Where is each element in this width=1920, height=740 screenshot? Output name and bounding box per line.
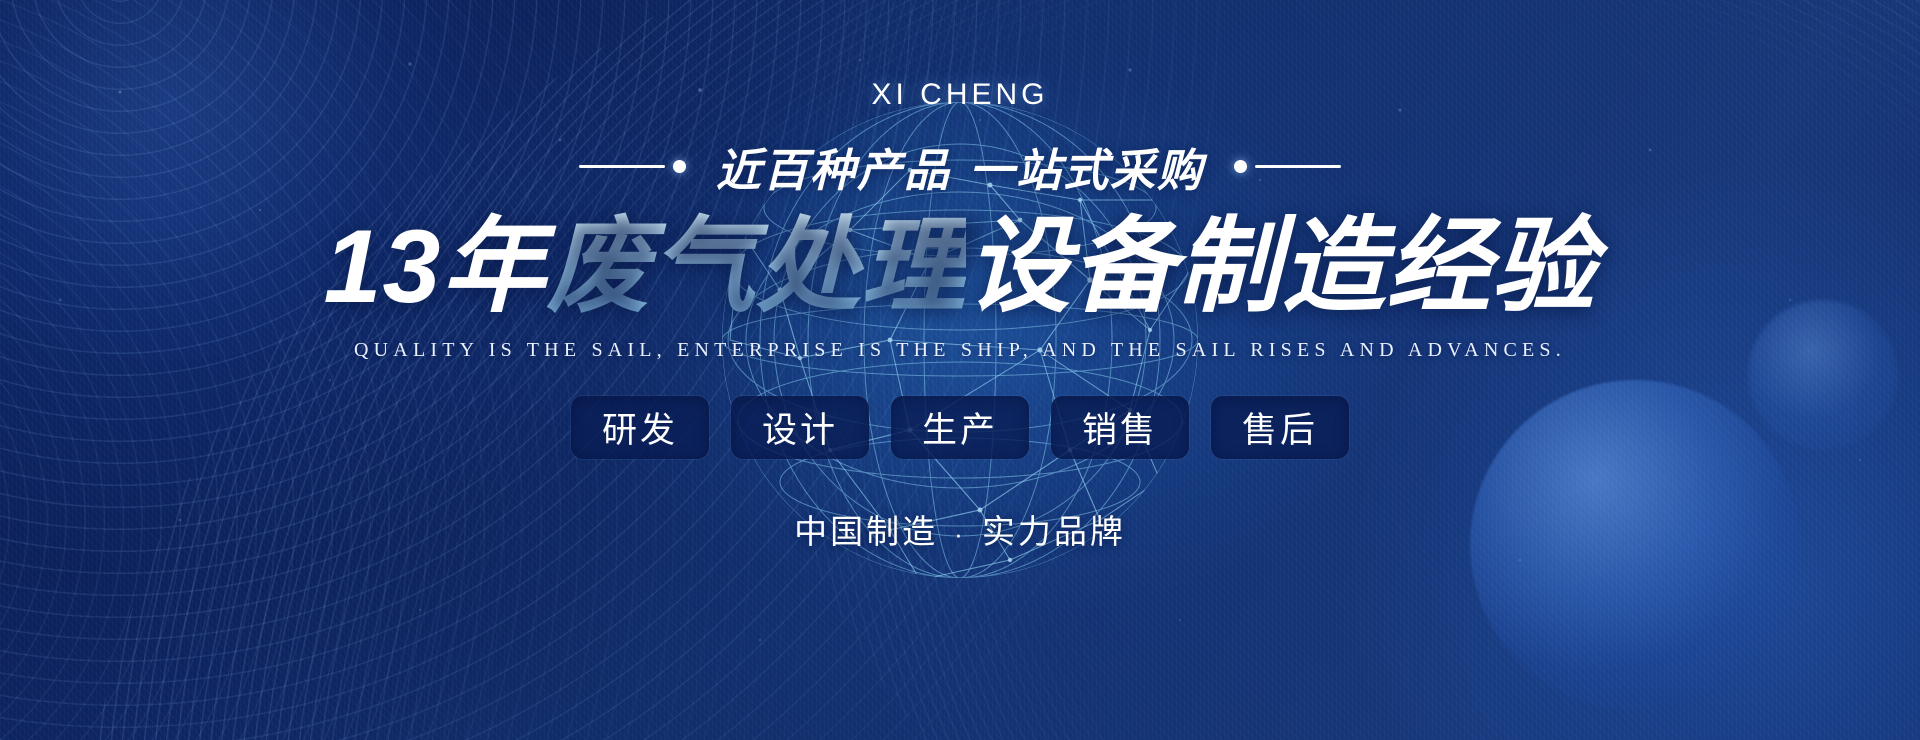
footnote: 中国制造·实力品牌 [794,505,1126,553]
english-tagline: QUALITY IS THE SAIL, ENTERPRISE IS THE S… [354,339,1566,362]
decorative-line-left [579,160,686,173]
service-tag-rd[interactable]: 研发 [571,396,709,459]
service-tag-sales[interactable]: 销售 [1051,396,1189,459]
middle-dot-icon: · [954,519,966,550]
footnote-left-text: 中国制造 [794,513,938,550]
service-tag-design[interactable]: 设计 [731,396,869,459]
decorative-line-right [1234,160,1341,173]
subtitle-right-text: 一站式采购 [969,145,1204,196]
headline-part-3: 设备制造经验 [966,209,1596,325]
headline-part-1: 13年 [324,209,547,325]
service-tag-production[interactable]: 生产 [891,396,1029,459]
service-tag-aftersales[interactable]: 售后 [1211,396,1349,459]
hero-banner: XI CHENG 近百种产品一站式采购 13年废气处理设备制造经验 QUALIT… [0,0,1920,740]
service-tag-list: 研发 设计 生产 销售 售后 [571,396,1349,459]
subtitle-left-text: 近百种产品 [716,145,951,196]
brand-name-english: XI CHENG [871,78,1048,112]
footnote-right-text: 实力品牌 [982,513,1126,550]
headline: 13年废气处理设备制造经验 [324,209,1597,325]
subtitle-row: 近百种产品一站式采购 [579,134,1341,199]
headline-highlight: 废气处理 [546,209,966,325]
banner-content: XI CHENG 近百种产品一站式采购 13年废气处理设备制造经验 QUALIT… [0,0,1920,740]
subtitle-text: 近百种产品一站式采购 [716,134,1204,199]
